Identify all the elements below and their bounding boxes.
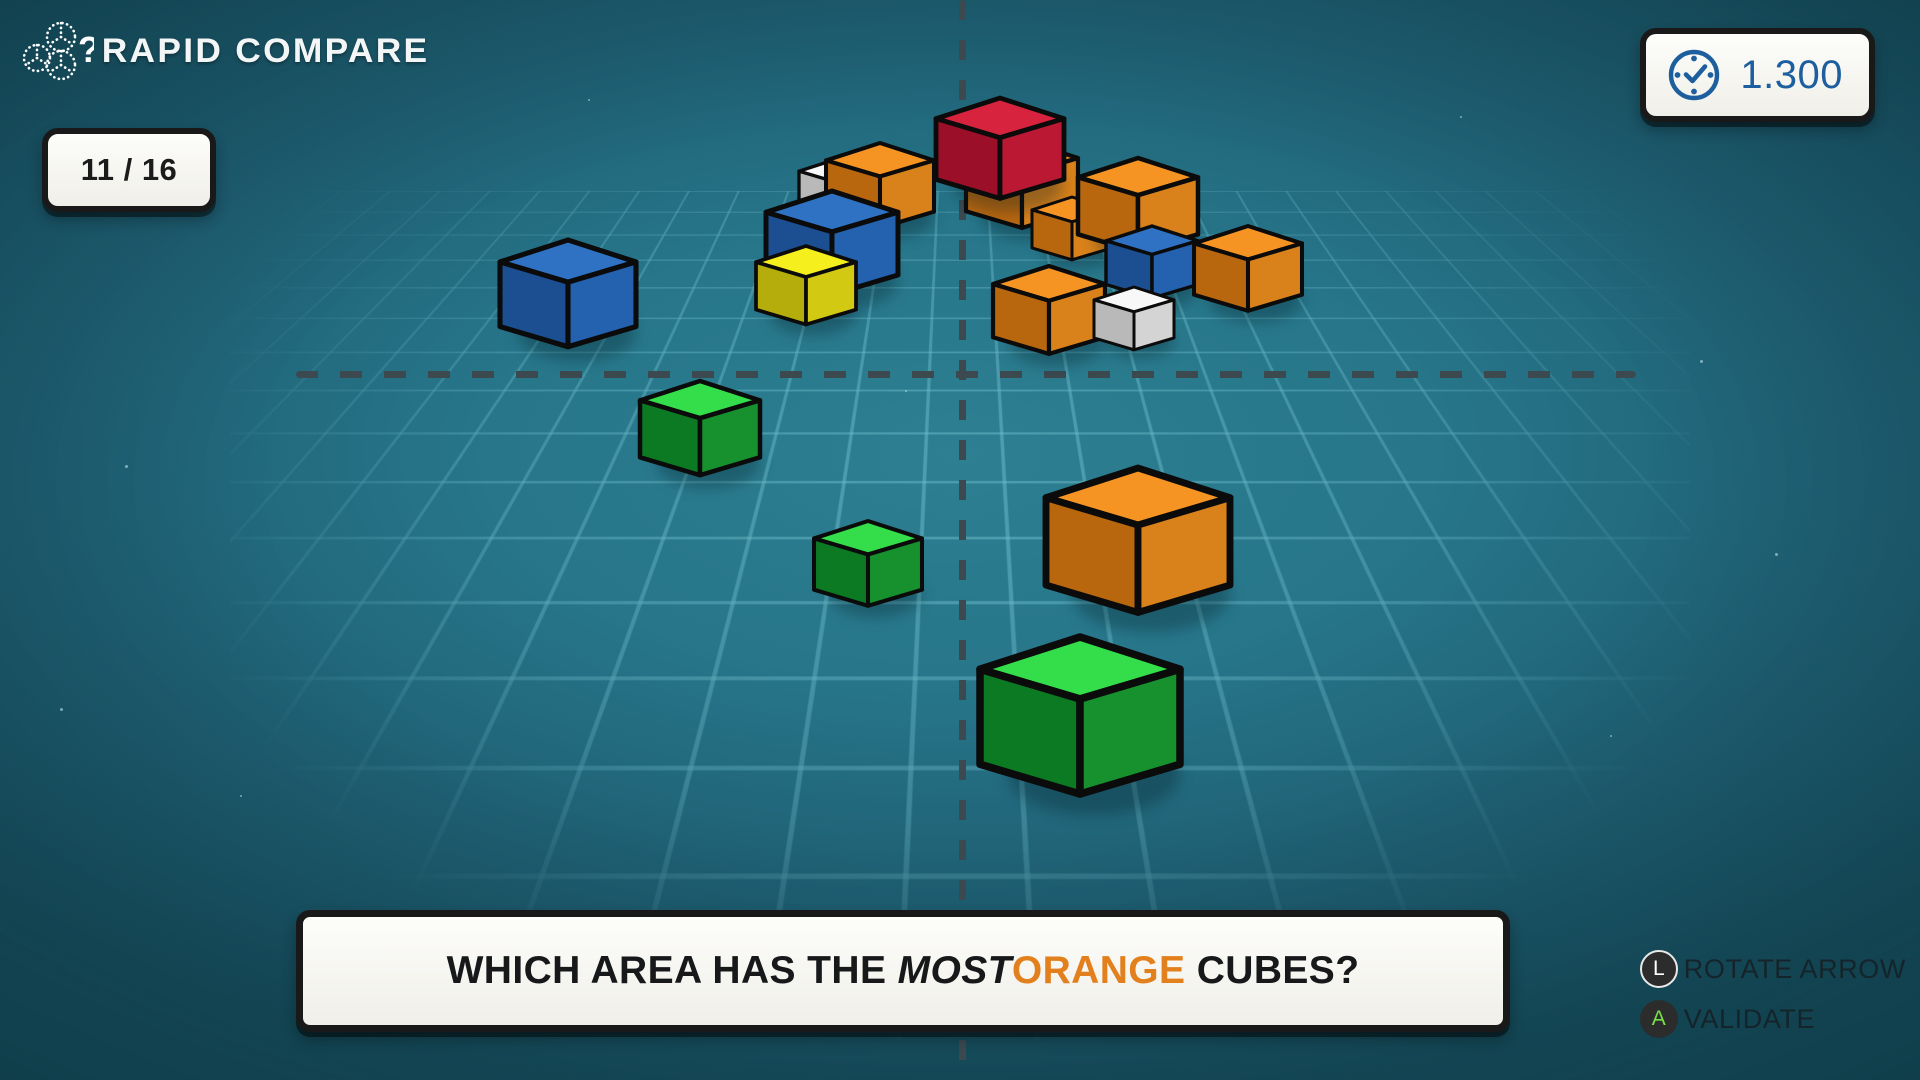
hint-label-validate: VALIDATE <box>1684 1004 1815 1035</box>
hint-label-rotate: ROTATE ARROW <box>1684 954 1906 985</box>
title-bar: ? RAPID COMPARE <box>20 20 423 82</box>
svg-text:?: ? <box>78 29 94 70</box>
timer-value: 1.300 <box>1740 53 1843 98</box>
question-bar: WHICH AREA HAS THE MOSTORANGE CUBES? <box>296 910 1510 1032</box>
progress-badge: 11 / 16 <box>42 128 216 212</box>
speckle <box>1460 116 1462 118</box>
question-emphasis: MOST <box>898 949 1012 992</box>
question-prefix: WHICH AREA HAS THE <box>447 949 898 992</box>
cube-green <box>640 381 760 475</box>
speckle <box>60 708 63 711</box>
cube-green <box>814 521 922 606</box>
cube-white <box>1094 287 1174 350</box>
cube-orange <box>1046 468 1230 612</box>
cube-green <box>980 637 1180 794</box>
speckle <box>1610 735 1612 737</box>
page-title: RAPID COMPARE <box>102 32 430 71</box>
cube-red <box>936 98 1064 198</box>
cube-orange <box>993 266 1105 354</box>
button-hints: L ROTATE ARROW A VALIDATE <box>1640 950 1906 1038</box>
speckle <box>905 390 907 392</box>
speckle <box>588 99 590 101</box>
a-button-icon[interactable]: A <box>1640 1000 1678 1038</box>
cube-blue <box>500 240 636 347</box>
question-suffix: CUBES? <box>1185 949 1359 992</box>
horizontal-divider <box>296 371 1636 378</box>
cube-orange <box>1194 226 1302 311</box>
hint-validate: A VALIDATE <box>1640 1000 1906 1038</box>
three-dotted-cubes-question-icon: ? <box>20 20 94 82</box>
speckle <box>240 795 242 797</box>
l-button-icon[interactable]: L <box>1640 950 1678 988</box>
progress-label: 11 / 16 <box>81 152 178 188</box>
question-accent: ORANGE <box>1012 949 1186 992</box>
speckle <box>125 465 128 468</box>
hint-rotate-arrow: L ROTATE ARROW <box>1640 950 1906 988</box>
question-text: WHICH AREA HAS THE MOSTORANGE CUBES? <box>447 949 1360 993</box>
speckle <box>1775 553 1778 556</box>
speckle <box>1700 360 1703 363</box>
timer-badge: 1.300 <box>1640 28 1875 122</box>
clock-icon <box>1666 47 1722 103</box>
cube-yellow <box>756 246 856 325</box>
